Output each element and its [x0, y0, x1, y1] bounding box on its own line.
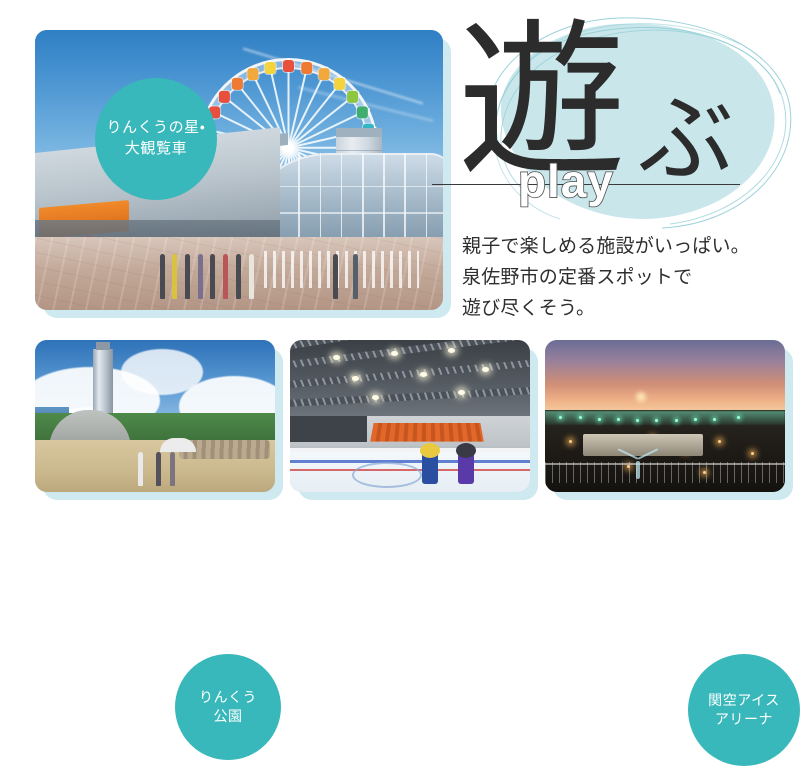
park-tent-pavilion: [160, 438, 196, 452]
hero-badge-rinku-star[interactable]: りんくうの星・ 大観覧車: [95, 78, 217, 200]
thumb-2-badge-kanku-ice-arena[interactable]: 関空アイス アリーナ: [688, 654, 800, 766]
thumbnail-card-rinku-park[interactable]: りんくう 公園: [35, 340, 275, 492]
title-block: 遊 ぶ play 親子で楽しめる施設がいっぱい。 泉佐野市の定番スポットで 遊び…: [440, 14, 800, 324]
thumb-1-badge-rinku-park[interactable]: りんくう 公園: [175, 654, 281, 760]
observation-deck-fence: [545, 462, 785, 483]
hero-photo-ferris-wheel: [35, 30, 443, 310]
telescope-icon: [617, 449, 661, 483]
lead-line-2: 泉佐野市の定番スポットで: [462, 263, 792, 294]
hero-photo-card[interactable]: りんくうの星・ 大観覧車: [35, 30, 443, 310]
thumb-3-photo-sky-view: [545, 340, 785, 492]
thumbnail-card-ice-arena[interactable]: 関空アイス アリーナ: [290, 340, 530, 492]
title-romaji-play: play: [518, 154, 614, 208]
lead-paragraph: 親子で楽しめる施設がいっぱい。 泉佐野市の定番スポットで 遊び尽くそう。: [462, 232, 792, 324]
thumbnail-card-sky-view[interactable]: 関空展望ホール スカイビュー: [545, 340, 785, 492]
mascot-skater-blue: [422, 450, 438, 484]
thumb-2-photo-ice-arena: [290, 340, 530, 492]
thumb-2-badge-line-2: アリーナ: [715, 710, 773, 729]
park-visitors: [136, 452, 179, 485]
thumb-1-photo-rinku-park: [35, 340, 275, 492]
dusk-sky: [545, 340, 785, 413]
thumb-1-badge-line-1: りんくう: [199, 688, 257, 707]
arena-dark-panel: [290, 416, 367, 442]
setting-sun-icon: [636, 392, 646, 402]
title-kana-bu: ぶ: [638, 92, 734, 188]
lead-line-3: 遊び尽くそう。: [462, 294, 792, 325]
arena-spectator-seats: [370, 423, 484, 441]
play-section-page: りんくうの星・ 大観覧車 遊 ぶ play 親子で楽しめる施設がいっぱい。 泉佐…: [0, 0, 800, 515]
thumb-1-badge-line-2: 公園: [213, 707, 242, 726]
faceoff-circle: [352, 462, 422, 488]
lead-line-1: 親子で楽しめる施設がいっぱい。: [462, 232, 792, 263]
mascot-skater-purple: [458, 450, 474, 484]
hero-badge-line-1: りんくうの星・: [106, 118, 205, 139]
crowd-secondary: [329, 254, 370, 299]
thumb-2-badge-line-1: 関空アイス: [708, 691, 780, 710]
hero-badge-line-2: 大観覧車: [125, 139, 187, 160]
crowd-of-visitors: [157, 254, 263, 299]
